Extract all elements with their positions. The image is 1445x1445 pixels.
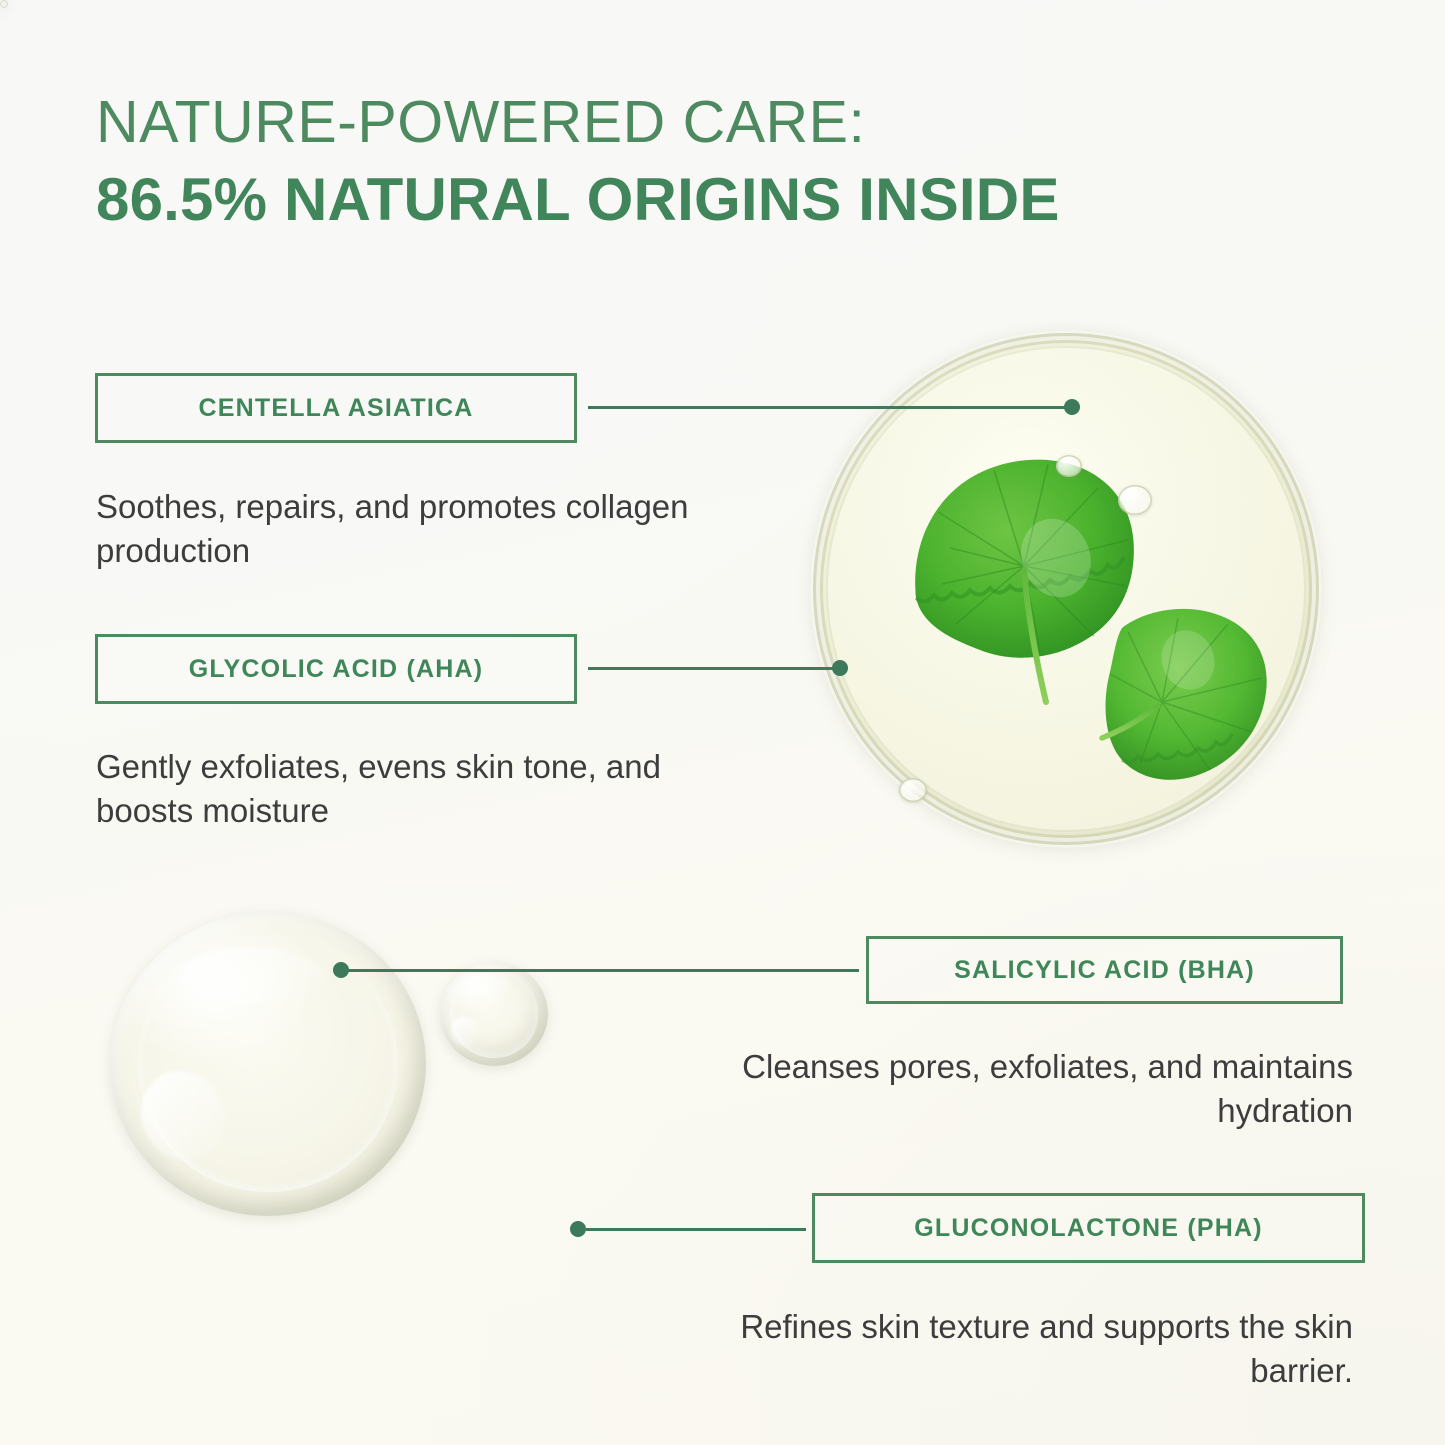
ingredient-chip-label: GLYCOLIC ACID (AHA) bbox=[189, 655, 484, 684]
headline-line-2: 86.5% NATURAL ORIGINS INSIDE bbox=[96, 168, 1276, 231]
ingredient-description-salicylic-acid: Cleanses pores, exfoliates, and maintain… bbox=[713, 1045, 1353, 1133]
serum-droplet-large bbox=[110, 912, 426, 1216]
ingredient-chip-label: GLUCONOLACTONE (PHA) bbox=[914, 1214, 1263, 1243]
dish-bubble-2 bbox=[1118, 485, 1152, 515]
ingredient-chip-glycolic-acid[interactable]: GLYCOLIC ACID (AHA) bbox=[95, 634, 577, 704]
connector-line-glycolic bbox=[588, 667, 844, 670]
connector-line-salicylic bbox=[341, 969, 859, 972]
connector-dot-gluconolactone bbox=[570, 1221, 586, 1237]
petri-dish-image bbox=[810, 330, 1322, 848]
connector-line-gluconolactone bbox=[586, 1228, 806, 1231]
ingredient-chip-salicylic-acid[interactable]: SALICYLIC ACID (BHA) bbox=[866, 936, 1343, 1004]
centella-leaf-large bbox=[915, 460, 1134, 702]
ingredient-description-gluconolactone: Refines skin texture and supports the sk… bbox=[733, 1305, 1353, 1393]
ingredient-chip-label: CENTELLA ASIATICA bbox=[198, 394, 473, 423]
ingredient-description-glycolic-acid: Gently exfoliates, evens skin tone, and … bbox=[96, 745, 706, 833]
dish-bubble-1 bbox=[1056, 455, 1082, 477]
serum-droplet-tiny bbox=[0, 0, 8, 8]
serum-droplet-small bbox=[440, 962, 548, 1066]
infographic-page: NATURE-POWERED CARE: 86.5% NATURAL ORIGI… bbox=[0, 0, 1445, 1445]
page-title: NATURE-POWERED CARE: 86.5% NATURAL ORIGI… bbox=[96, 92, 1276, 231]
headline-line-1: NATURE-POWERED CARE: bbox=[96, 92, 1276, 154]
centella-leaf-small bbox=[1102, 609, 1267, 780]
ingredient-chip-gluconolactone[interactable]: GLUCONOLACTONE (PHA) bbox=[812, 1193, 1365, 1263]
ingredient-chip-label: SALICYLIC ACID (BHA) bbox=[954, 956, 1255, 985]
centella-leaves bbox=[810, 330, 1322, 848]
dish-bubble-3 bbox=[899, 778, 927, 802]
connector-dot-salicylic bbox=[333, 962, 349, 978]
ingredient-description-centella-asiatica: Soothes, repairs, and promotes collagen … bbox=[96, 485, 736, 573]
ingredient-chip-centella-asiatica[interactable]: CENTELLA ASIATICA bbox=[95, 373, 577, 443]
